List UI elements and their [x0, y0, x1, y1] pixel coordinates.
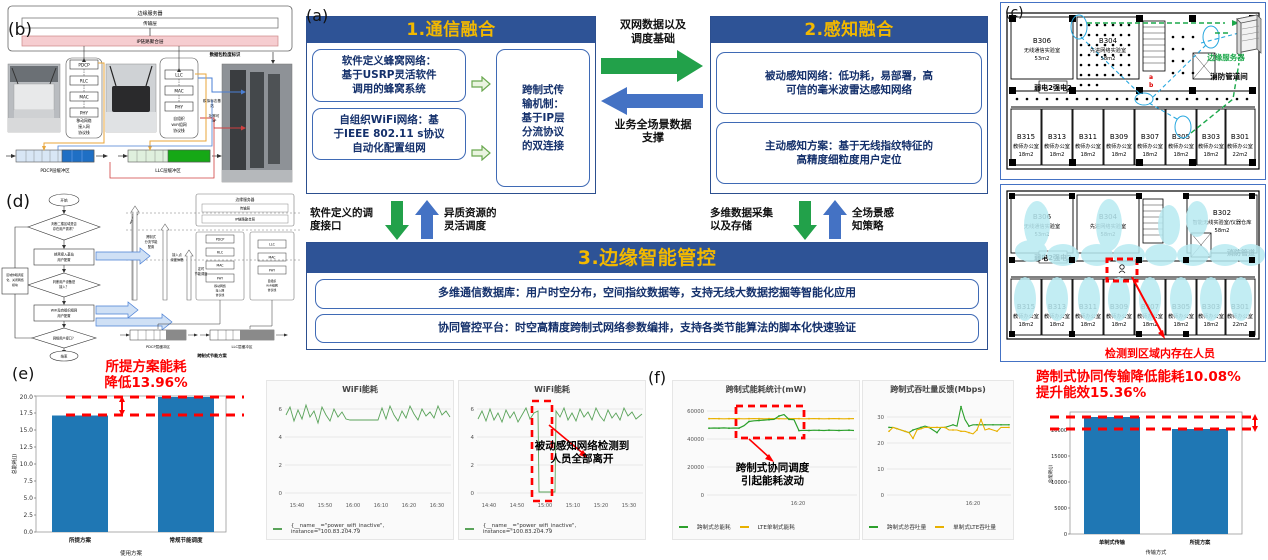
bar-proposed: [52, 416, 108, 533]
chart-f-throughput-legend-1: 单制式LTE吞吐量: [953, 523, 996, 531]
svg-text:4: 4: [279, 435, 283, 441]
pd-arrow-lbl-2b: 深度休眠: [171, 257, 185, 262]
arrow-top-right-label: 双网数据以及 调度基础: [597, 18, 709, 46]
llc-buffer-label: LLC层缓冲区: [155, 167, 181, 174]
chart-e-annotation: 所提方案能耗 降低13.96%: [56, 360, 236, 392]
chart-g-cat-1: 所提方案: [1190, 538, 1212, 546]
f-energy-annotation: 跨制式协同调度 引起能耗波动: [705, 462, 840, 487]
stack-pdcp: PDCP: [78, 63, 90, 68]
room-B304-top-desc: 先进网络实验室: [1090, 46, 1126, 54]
chart-g-svg: 0500010000 1500020000 单制式传输 所提方案 传输方式 总能…: [1030, 406, 1268, 558]
svg-text:22m2: 22m2: [1233, 152, 1248, 158]
panel-d-diagram: 开始 判断二楼区域是否 存在用户需求？ 蜂窝接入基站 用户配置 判断用户设备是 …: [0, 190, 300, 362]
flow-side-2: 化、关闭网络: [6, 277, 23, 282]
flow-side-1: 区域休眠调度: [6, 272, 23, 277]
chart-g-ylabel: 总能耗(J): [1047, 464, 1054, 483]
flow-step-1b: 用户配置: [57, 257, 71, 262]
svg-text:教师办公室: 教师办公室: [1106, 142, 1132, 150]
block3-item-1-text: 协同管控平台：时空高精度跨制式网络参数编排，支持各类节能算法的脚本化快速验证: [438, 321, 856, 336]
svg-text:18m2: 18m2: [1019, 322, 1034, 328]
panel-b-label: (b): [8, 20, 32, 40]
room-B306-top-desc: 无线通信实验室: [1024, 46, 1060, 54]
transport-layer-label: 传输层: [143, 20, 157, 27]
chart-f-energy-title: 跨制式能耗统计(mW): [673, 381, 859, 395]
blue-arrow-up-icon-2: [822, 199, 848, 241]
room-B311-top: B311: [1079, 133, 1097, 141]
legend-swatch-t-green: [869, 526, 878, 528]
chart-e-ylabel: 总能耗(J): [11, 454, 18, 474]
chart-wifi-1-title: WiFi能耗: [267, 381, 453, 395]
chart-wifi-1-card: WiFi能耗 6420 15:4015:5016:00 16:1016:2016…: [266, 380, 454, 540]
edge-server-label: 边缘服务器: [137, 10, 162, 17]
chart-wifi-2-title: WiFi能耗: [459, 381, 645, 395]
svg-text:a: a: [1149, 74, 1153, 81]
label-fire-top: 消防管道间: [1210, 71, 1248, 81]
panel-c-floorplan-bottom: B306 无线通信实验室 53m2 B304 先进网络实验室 58m2 B302…: [1000, 184, 1266, 362]
chart-f-energy-legend-1: LTE单制式能耗: [758, 523, 795, 531]
panel-d-label: (d): [6, 192, 30, 212]
block1-left-item-1: 自组织WiFi网络：基 于IEEE 802.11 s协议 自动化配置组网: [312, 108, 466, 161]
room-B304-top: B304: [1099, 37, 1118, 45]
room-B315-top-desc: 教师办公室: [1013, 142, 1039, 150]
arrow-down-right-label: 多维数据采集 以及存储: [710, 207, 788, 233]
chart-f-energy-card: 跨制式能耗统计(mW) 6000040000200000 16:20 跨制式总能…: [672, 380, 860, 540]
arrow-bottom-left-label: 业务全场景数据 支撑: [597, 118, 709, 146]
ap-tag: 功率可: [209, 113, 220, 118]
pd-arrow-lbl-3b: 节能调度: [195, 271, 209, 276]
blue-arrow-up-icon: [414, 199, 440, 241]
block1-left-item-1-text: 自组织WiFi网络：基 于IEEE 802.11 s协议 自动化配置组网: [334, 113, 445, 156]
stack-left-caption-1: 移动网络: [76, 118, 91, 123]
pd-arrow-lbl-2a: 接入点: [172, 252, 182, 257]
svg-text:2: 2: [471, 463, 475, 469]
pd-mac-r: MAC: [268, 256, 276, 260]
llc-buffer: LLC层缓冲区: [128, 150, 210, 174]
svg-text:15:50: 15:50: [318, 503, 332, 509]
svg-text:AP: AP: [212, 119, 217, 123]
svg-text:18m2: 18m2: [1050, 322, 1065, 328]
chart-wifi-2-legend-text: {__name__="power_wifi_inactive", instanc…: [483, 523, 645, 535]
legend-swatch-f-yellow: [740, 526, 749, 528]
chart-f-energy-xtick: 16:20: [791, 501, 805, 507]
pd-arrow-lbl-1c: 配置: [148, 244, 154, 249]
svg-text:18m2: 18m2: [1174, 322, 1189, 328]
stack-left-caption-2: 接入网: [78, 124, 90, 129]
svg-text:16:00: 16:00: [346, 503, 360, 509]
room-B309-top: B309: [1110, 133, 1128, 141]
svg-text:0.0: 0.0: [23, 529, 33, 536]
green-arrow-right-big-icon: [597, 49, 707, 83]
label-power-top: 弱电2强电2: [1034, 83, 1072, 92]
arrow-group-horizontal: 双网数据以及 调度基础 业务全场景数据 支撑: [597, 18, 709, 145]
block-communication-fusion: 1.通信融合 软件定义蜂窝网络： 基于USRP灵活软件 调用的蜂窝系统 自组织W…: [306, 16, 596, 194]
stack-right-caption-3: 协议栈: [173, 128, 185, 133]
svg-text:18m2: 18m2: [1174, 152, 1189, 158]
chart-e-cat-1: 常规节能调度: [169, 536, 203, 544]
svg-text:60000: 60000: [687, 409, 704, 415]
panel-d-right-caption: 跨制式节能方案: [197, 352, 227, 359]
svg-text:15:00: 15:00: [538, 503, 552, 509]
pd-arrow-lbl-3a: 定时: [198, 266, 205, 271]
svg-text:6: 6: [279, 407, 283, 413]
block1-title: 1.通信融合: [307, 17, 595, 43]
block2-item-0: 被动感知网络：低功耗，易部署，高 可信的毫米波雷达感知网络: [716, 52, 982, 114]
svg-text:18m2: 18m2: [1112, 322, 1127, 328]
floorplan-bottom-svg: B306 无线通信实验室 53m2 B304 先进网络实验室 58m2 B302…: [1001, 185, 1265, 361]
panel-f-label-wrap: (f): [648, 368, 660, 388]
svg-text:4: 4: [471, 435, 475, 441]
svg-text:0: 0: [1064, 532, 1067, 538]
room-B306-top-area: 53m2: [1035, 56, 1050, 62]
panel-d-flow: (d) 开始 判断二楼区域是否 存在用户需求？ 蜂窝接入基站 用户配置 判断用户…: [0, 190, 300, 362]
flow-end: 结束: [61, 354, 68, 359]
pd-rlc: RLC: [217, 251, 224, 255]
svg-text:教师办公室: 教师办公室: [1075, 142, 1101, 150]
room-B307-top: B307: [1141, 133, 1159, 141]
svg-text:15:10: 15:10: [566, 503, 580, 509]
svg-text:18m2: 18m2: [1204, 152, 1219, 158]
pd-arrow-lbl-1a: 跨制式: [146, 234, 156, 239]
block3-item-0-text: 多维通信数据库：用户时空分布，空间指纹数据等，支持无线大数据挖掘等智能化应用: [438, 286, 856, 301]
svg-text:22m2: 22m2: [1233, 322, 1248, 328]
pdcp-buffer: PDCP层缓冲区: [16, 150, 94, 174]
detection-annotation: 检测到区域内存在人员: [1055, 345, 1265, 361]
pd-cap-l2: 接入网: [216, 288, 225, 293]
svg-text:14:50: 14:50: [510, 503, 524, 509]
block1-right-item-text: 跨制式传 输机制： 基于IP层 分流协议 的双连接: [521, 83, 564, 154]
flow-step-1a: 蜂窝接入基站: [54, 252, 74, 257]
legend-swatch-green-2: [465, 528, 474, 530]
svg-text:20.0: 20.0: [20, 394, 34, 401]
chart-f-throughput-title: 跨制式吞吐量反馈(Mbps): [863, 381, 1013, 395]
legend-swatch-f-green: [679, 526, 688, 528]
ip-converge-label: IP链路聚合层: [136, 38, 164, 45]
wifi-2-annotation: 被动感知网络检测到 人员全部离开: [518, 440, 646, 465]
block2-title: 2.感知融合: [711, 17, 987, 43]
svg-text:0: 0: [701, 493, 705, 499]
svg-text:15:40: 15:40: [290, 503, 304, 509]
stack-phy-r: PHY: [175, 105, 184, 110]
panel-f-label: (f): [648, 368, 666, 387]
room-B301-top: B301: [1231, 133, 1249, 141]
floorplan-top-svg: B306 无线通信实验室 53m2 B304 B3: [1001, 3, 1265, 179]
stack-right-caption-1: 自组织: [173, 116, 185, 121]
pd-pdcp: PDCP: [216, 238, 225, 242]
room-B302-bot-area: 58m2: [1215, 228, 1230, 234]
svg-text:18m2: 18m2: [1112, 152, 1127, 158]
svg-text:15:30: 15:30: [622, 503, 636, 509]
pd-pdcp-buffer: PDCP层缓冲区: [146, 344, 170, 349]
chart-f-throughput-svg: 3020100 16:20: [863, 395, 1015, 517]
pdcp-buffer-label: PDCP层缓冲区: [40, 167, 70, 174]
block2-item-1: 主动感知方案：基于无线指纹特征的 高精度细粒度用户定位: [716, 122, 982, 184]
room-B303-top: B303: [1202, 133, 1220, 141]
green-arrow-right-icon-2: [471, 145, 491, 161]
panel-d-ip: IP链路聚合层: [235, 217, 256, 222]
panel-c-label: (c): [1005, 5, 1024, 21]
panel-c-floorplan-top: (c) B306 无线通信实验室 53m2 B304: [1000, 2, 1266, 180]
chart-e-container: (e) 所提方案能耗 降低13.96% 0.02.55.0 7.510.012.…: [4, 360, 262, 560]
pd-phy-l: PHY: [217, 277, 223, 281]
stack-mac-r: MAC: [174, 89, 183, 94]
pd-cap-l1: 移动网络: [214, 283, 226, 288]
panel-b-testbed: (b) 边缘服务器 传输层 IP链路聚合层 数据包粒度标识 PDCP RLC M…: [0, 0, 300, 190]
panel-a-architecture: (a) 1.通信融合 软件定义蜂窝网络： 基于USRP灵活软件 调用的蜂窝系统 …: [302, 2, 992, 354]
pd-cap-l3: 协议栈: [216, 292, 225, 297]
svg-text:18m2: 18m2: [1204, 322, 1219, 328]
stack-left-caption-3: 协议栈: [78, 130, 90, 135]
block1-right-item: 跨制式传 输机制： 基于IP层 分流协议 的双连接: [496, 49, 590, 187]
arrow-up-right-label: 全场景感 知策略: [852, 207, 914, 233]
arrow-group-left-vertical: 软件定义的调 度接口 异质资源的 灵活调度: [310, 198, 600, 242]
pd-mac-l: MAC: [216, 264, 224, 268]
flow-decision-3: 网络用户接口？: [53, 336, 75, 341]
svg-text:7.5: 7.5: [23, 478, 33, 485]
flow-decision-1a: 判断二楼区域是否: [51, 221, 77, 226]
svg-text:18m2: 18m2: [1081, 152, 1096, 158]
room-B315-top: B315: [1017, 133, 1035, 141]
green-arrow-right-icon-1: [471, 76, 491, 92]
svg-text:12.5: 12.5: [20, 444, 34, 451]
block1-left-item-0-text: 软件定义蜂窝网络： 基于USRP灵活软件 调用的蜂窝系统: [342, 54, 437, 97]
flow-decision-2a: 判断用户设备是: [53, 279, 76, 284]
svg-text:2: 2: [279, 463, 283, 469]
stack-rlc: RLC: [80, 79, 88, 84]
svg-text:18m2: 18m2: [1143, 322, 1158, 328]
chart-g-container: 跨制式协同传输降低能耗10.08% 提升能效15.36% 0500010000 …: [1030, 372, 1268, 560]
svg-text:教师办公室: 教师办公室: [1198, 142, 1224, 150]
svg-text:15.0: 15.0: [20, 427, 34, 434]
room-B305-top: B305: [1172, 133, 1190, 141]
flow-start: 开始: [60, 198, 68, 203]
svg-text:教师办公室: 教师办公室: [1044, 142, 1070, 150]
stack-right-caption-2: WiFi组网: [171, 122, 186, 127]
room-B306-top: B306: [1033, 37, 1052, 45]
chart-e-svg: 0.02.55.0 7.510.012.5 15.017.520.0 所提方案 …: [4, 390, 262, 560]
svg-text:16:20: 16:20: [402, 503, 416, 509]
legend-swatch-t-yellow: [935, 526, 944, 528]
arrow-up-left-label: 异质资源的 灵活调度: [444, 207, 522, 233]
svg-text:15:20: 15:20: [594, 503, 608, 509]
block-sensing-fusion: 2.感知融合 被动感知网络：低功耗，易部署，高 可信的毫米波雷达感知网络 主动感…: [710, 16, 988, 194]
green-arrow-down-icon: [384, 199, 410, 241]
blue-arrow-left-big-icon: [597, 86, 707, 116]
pd-llc-buffer: LLC层缓冲区: [232, 344, 253, 349]
chart-wifi-2-legend: {__name__="power_wifi_inactive", instanc…: [459, 521, 645, 535]
svg-text:教师办公室: 教师办公室: [1227, 142, 1253, 150]
chart-f-throughput-xtick: 16:20: [966, 501, 980, 507]
flow-step-2b: 用户配置: [57, 313, 71, 318]
svg-text:18m2: 18m2: [1143, 152, 1158, 158]
svg-text:40000: 40000: [687, 437, 704, 443]
svg-text:2.5: 2.5: [23, 512, 33, 519]
svg-text:教师办公室: 教师办公室: [1137, 142, 1163, 150]
chart-wifi-1-legend-text: {__name__="power_wifi_inactive", instanc…: [291, 523, 453, 535]
arrow-down-left-label: 软件定义的调 度接口: [310, 207, 380, 233]
svg-text:5.0: 5.0: [23, 495, 33, 502]
chart-g-cat-0: 单制式传输: [1099, 538, 1126, 546]
svg-text:0: 0: [471, 491, 475, 497]
svg-text:14:40: 14:40: [482, 503, 496, 509]
pd-cap-r2: WiFi组网: [266, 283, 278, 288]
block2-item-0-text: 被动感知网络：低功耗，易部署，高 可信的毫米波雷达感知网络: [765, 69, 933, 97]
block2-item-1-text: 主动感知方案：基于无线指纹特征的 高精度细粒度用户定位: [765, 139, 933, 167]
svg-text:18m2: 18m2: [1050, 152, 1065, 158]
svg-text:6: 6: [471, 407, 475, 413]
block3-item-1: 协同管控平台：时空高精度跨制式网络参数编排，支持各类节能算法的脚本化快速验证: [315, 314, 979, 344]
room-B315-top-area: 18m2: [1019, 152, 1034, 158]
panel-e-label: (e): [12, 364, 34, 383]
stack-mac-l: MAC: [79, 95, 88, 100]
stack-llc: LLC: [175, 73, 183, 78]
stack-phy-l: PHY: [80, 111, 89, 116]
flow-decision-2b: 接入？: [59, 284, 69, 289]
chart-f-energy-legend: 跨制式总能耗 LTE单制式能耗: [673, 521, 859, 531]
bar-conventional: [158, 397, 214, 532]
chart-e-cat-0: 所提方案: [69, 536, 92, 544]
green-arrow-down-icon-2: [792, 199, 818, 241]
svg-text:18m2: 18m2: [1081, 322, 1096, 328]
svg-text:10.0: 10.0: [20, 461, 34, 468]
panel-b-schematic: 边缘服务器 传输层 IP链路聚合层 数据包粒度标识 PDCP RLC MAC P…: [0, 0, 300, 190]
label-edge-server-top: 边缘服务器: [1206, 52, 1245, 62]
block1-left-item-0: 软件定义蜂窝网络： 基于USRP灵活软件 调用的蜂窝系统: [312, 49, 466, 102]
chart-g-xlabel: 传输方式: [1146, 548, 1168, 556]
svg-text:10: 10: [877, 467, 884, 473]
room-B313-top: B313: [1048, 133, 1066, 141]
bar-single-mode: [1084, 417, 1140, 534]
pd-cap-r1: 自组织: [268, 278, 277, 283]
chart-wifi-1-legend: {__name__="power_wifi_inactive", instanc…: [267, 521, 453, 535]
arrow-group-right-vertical: 多维数据采集 以及存储 全场景感 知策略: [710, 198, 990, 242]
svg-text:0: 0: [279, 491, 283, 497]
room-B304-top-area: 58m2: [1101, 56, 1116, 62]
svg-text:教师办公室: 教师办公室: [1168, 142, 1194, 150]
chart-f-throughput-card: 跨制式吞吐量反馈(Mbps) 3020100 16:20 跨制式总吞吐量 单制式…: [862, 380, 1014, 540]
panel-a-label: (a): [306, 6, 328, 25]
legend-swatch-green: [273, 528, 282, 530]
chart-f-energy-legend-0: 跨制式总能耗: [697, 523, 731, 531]
block3-item-0: 多维通信数据库：用户时空分布，空间指纹数据等，支持无线大数据挖掘等智能化应用: [315, 279, 979, 309]
flow-step-2a: WiFi及自组织组网: [51, 308, 78, 313]
block3-title: 3.边缘智能管控: [307, 243, 987, 273]
pd-arrow-lbl-1b: 分流节能: [145, 239, 159, 244]
svg-text:15000: 15000: [1051, 454, 1067, 460]
chart-f-throughput-legend-0: 跨制式总吞吐量: [887, 523, 926, 531]
room-B302-bot: B302: [1213, 209, 1231, 217]
chart-f-throughput-legend: 跨制式总吞吐量 单制式LTE吞吐量: [863, 521, 1013, 531]
pd-phy-r: PHY: [269, 269, 275, 273]
svg-text:20000: 20000: [687, 465, 704, 471]
bar-proposed-g: [1172, 429, 1228, 534]
flow-decision-1b: 存在用户需求？: [53, 226, 75, 231]
panel-d-transport: 传输层: [240, 206, 251, 211]
svg-text:16:10: 16:10: [374, 503, 388, 509]
block-edge-intelligence: 3.边缘智能管控 多维通信数据库：用户时空分布，空间指纹数据等，支持无线大数据挖…: [306, 242, 988, 350]
svg-text:20: 20: [877, 441, 884, 447]
chart-wifi-1-svg: 6420 15:4015:5016:00 16:1016:2016:30: [267, 395, 455, 517]
pd-llc: LLC: [269, 243, 276, 247]
svg-text:16:30: 16:30: [430, 503, 444, 509]
svg-text:17.5: 17.5: [20, 410, 34, 417]
chart-e-xlabel: 使用方案: [120, 549, 143, 557]
data-packet-label: 数据包粒度标识: [210, 51, 241, 58]
svg-text:5000: 5000: [1054, 506, 1067, 512]
pd-cap-r3: 协议栈: [268, 287, 277, 292]
svg-text:30: 30: [877, 415, 884, 421]
svg-text:0: 0: [881, 493, 885, 499]
panel-d-edge-server: 边缘服务器: [236, 197, 255, 202]
chart-g-annotation: 跨制式协同传输降低能耗10.08% 提升能效15.36%: [1030, 370, 1268, 402]
chart-f-energy-svg: 6000040000200000 16:20: [673, 395, 861, 517]
svg-text:b: b: [1149, 82, 1154, 89]
flow-side-3: 模块: [12, 282, 18, 287]
